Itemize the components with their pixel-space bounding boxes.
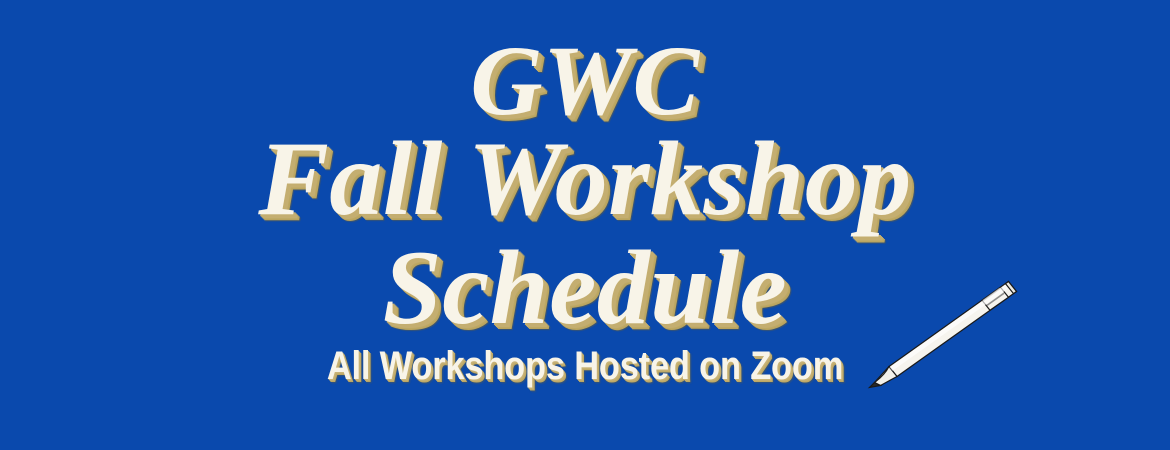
gwc-fall-workshop-banner: GWC Fall Workshop Schedule All Workshops… xyxy=(0,0,1170,450)
headline-line-gwc: GWC xyxy=(0,31,1170,131)
pencil-decoration xyxy=(850,268,1030,398)
pencil-icon xyxy=(850,268,1030,398)
headline-line-fall-workshop: Fall Workshop xyxy=(0,126,1170,232)
